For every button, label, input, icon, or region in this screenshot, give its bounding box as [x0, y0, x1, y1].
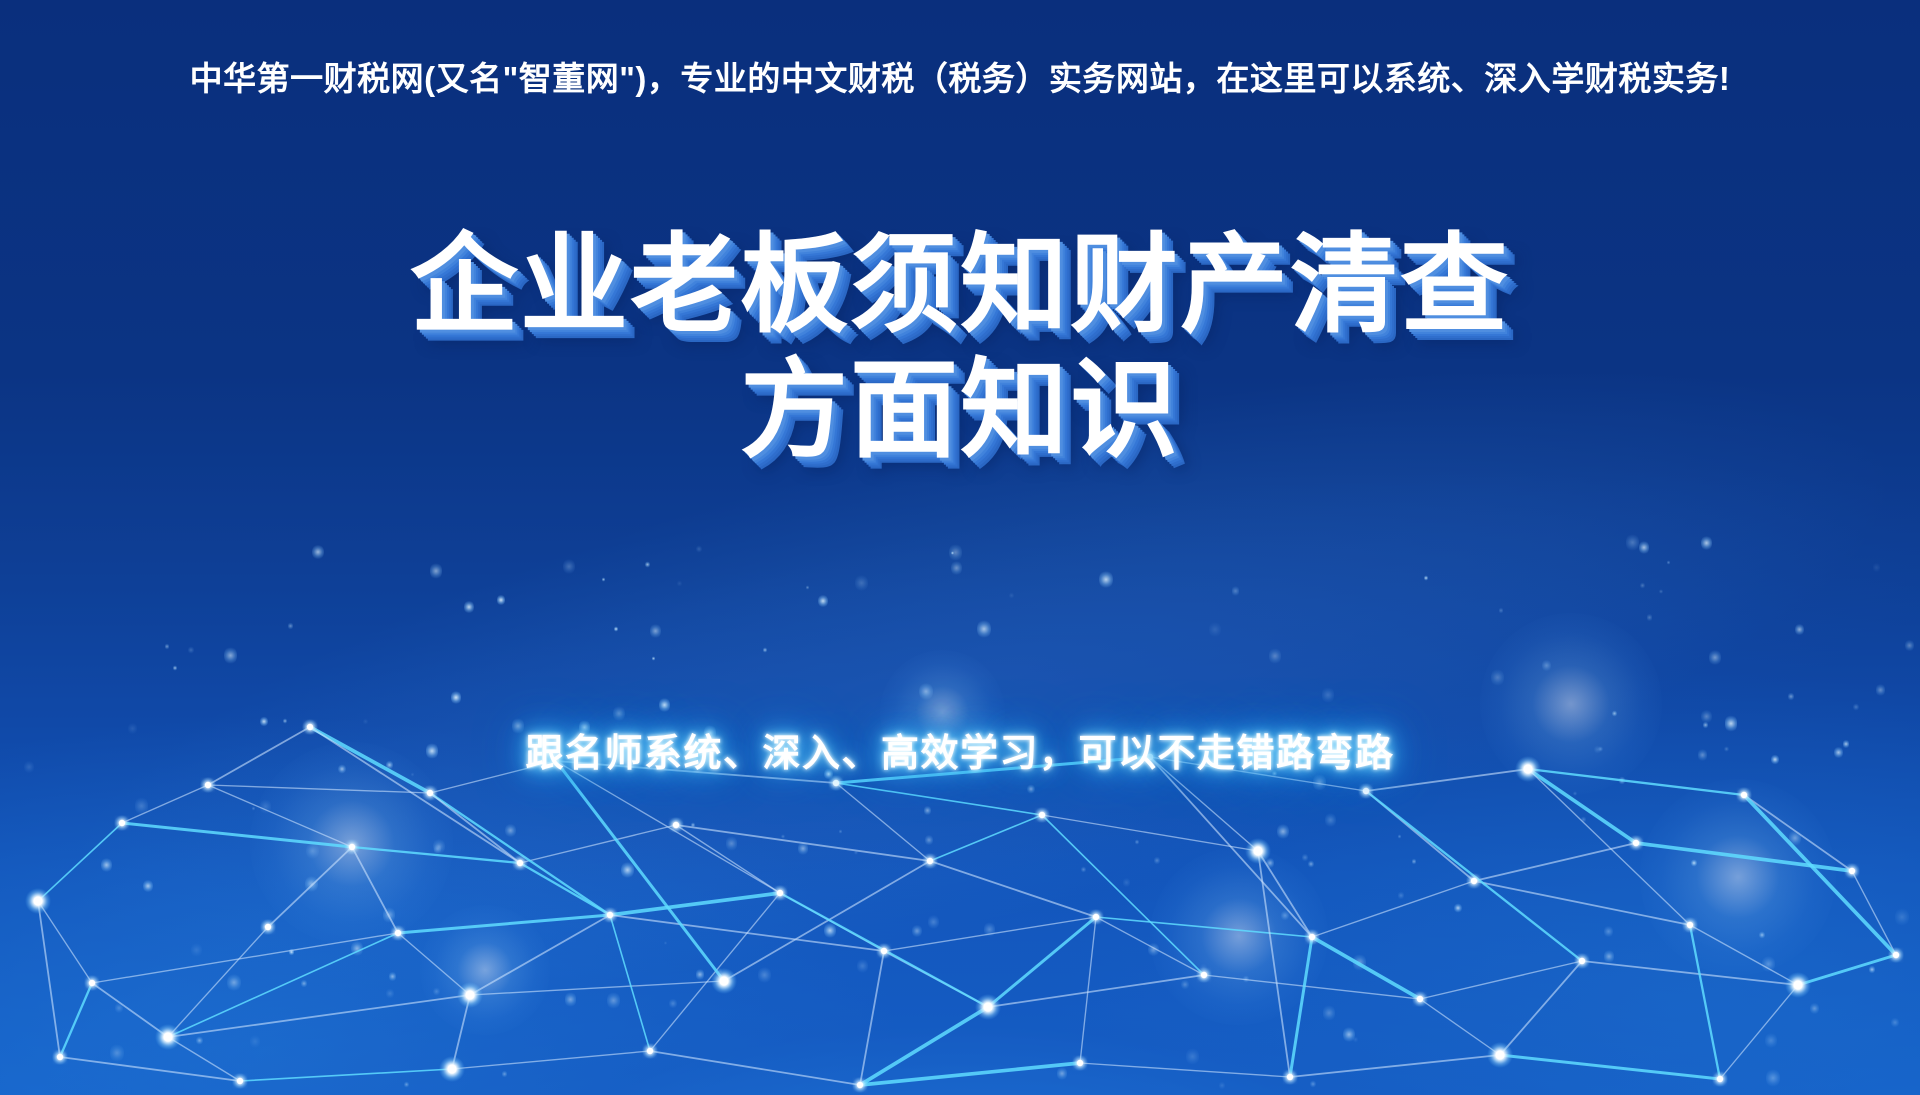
bokeh-particle [1424, 575, 1428, 581]
bokeh-particle [502, 1070, 508, 1078]
network-edge [1528, 769, 1636, 843]
network-edge [610, 893, 780, 915]
network-edge [610, 915, 884, 951]
bokeh-particle [389, 971, 397, 982]
bokeh-particle [912, 924, 922, 939]
site-tagline: 中华第一财税网(又名"智董网")，专业的中文财税（税务）实务网站，在这里可以系统… [190, 58, 1731, 101]
network-edge [1420, 999, 1500, 1055]
bokeh-particle [1499, 607, 1503, 613]
network-node [1309, 934, 1315, 940]
network-edge [780, 893, 988, 1007]
bokeh-halo [1640, 779, 1836, 975]
network-edge [1474, 843, 1636, 881]
bokeh-particle [289, 948, 295, 956]
bokeh-particle [951, 560, 962, 576]
bokeh-particle [1209, 621, 1221, 638]
network-edge [398, 933, 470, 995]
network-node [427, 790, 433, 796]
network-node-glow [390, 925, 406, 941]
network-edge [1042, 815, 1258, 851]
bokeh-particle [763, 647, 766, 652]
bokeh-particle [301, 979, 307, 988]
network-node [33, 896, 42, 905]
bokeh-particle [1269, 647, 1281, 664]
bokeh-particle [1325, 812, 1337, 829]
network-edge [930, 861, 1096, 917]
bokeh-particle [758, 966, 770, 984]
subtitle-text: 跟名师系统、深入、高效学习，可以不走错路弯路 [525, 722, 1394, 777]
network-node [1633, 840, 1639, 846]
bokeh-particle [977, 619, 991, 639]
network-edge [430, 793, 610, 915]
bokeh-particle [645, 561, 650, 568]
network-node [927, 858, 933, 864]
bokeh-particle [1604, 949, 1615, 964]
network-edge [988, 975, 1204, 1007]
bokeh-particle [1302, 853, 1308, 862]
network-node-glow [52, 1049, 68, 1065]
network-edge [168, 1037, 240, 1081]
bokeh-particle [1343, 1026, 1355, 1044]
bokeh-particle [1659, 589, 1663, 595]
network-edge [1420, 961, 1582, 999]
bokeh-particle [1573, 791, 1577, 796]
network-edge [470, 981, 724, 995]
bokeh-particle [696, 968, 705, 981]
bokeh-particle [433, 987, 439, 996]
network-node-glow [84, 975, 100, 991]
network-node [89, 980, 95, 986]
network-node [265, 924, 271, 930]
network-edge [430, 793, 520, 863]
network-node [857, 1082, 863, 1088]
network-edge [650, 1051, 860, 1085]
bokeh-particle [1454, 903, 1461, 913]
bokeh-particle [1135, 839, 1139, 845]
network-edge [38, 823, 122, 901]
bokeh-particle [1398, 834, 1401, 838]
bokeh-particle [433, 838, 445, 855]
bokeh-particle [1709, 649, 1720, 665]
network-node-glow [512, 855, 528, 871]
bokeh-particle [1795, 623, 1804, 636]
network-edge [676, 825, 930, 861]
network-node-glow [828, 775, 844, 791]
bokeh-particle [1604, 925, 1613, 939]
network-edge [452, 1051, 650, 1069]
bokeh-particle [614, 626, 618, 632]
network-node-glow [1245, 838, 1271, 864]
bokeh-particle [305, 875, 317, 893]
bokeh-particle [464, 600, 473, 614]
network-node [119, 820, 125, 826]
bokeh-particle [260, 798, 271, 814]
bokeh-particle [818, 594, 828, 608]
bokeh-particle [288, 622, 293, 629]
network-edge [836, 783, 1042, 815]
bokeh-particle [1759, 931, 1764, 939]
bokeh-particle [188, 646, 194, 654]
network-edge [122, 823, 352, 847]
bokeh-particle [1081, 866, 1086, 874]
network-edge [724, 861, 930, 981]
network-node-glow [1574, 953, 1590, 969]
bokeh-particle [497, 594, 505, 606]
bokeh-particle [1619, 776, 1625, 784]
bokeh-particle [1027, 784, 1034, 794]
bokeh-particle [173, 665, 177, 670]
network-node-glow [457, 982, 483, 1008]
network-node-glow [1282, 1069, 1298, 1085]
bokeh-particle [1148, 942, 1159, 957]
network-node [1893, 952, 1899, 958]
bokeh-particle [806, 585, 810, 590]
network-node-glow [642, 1043, 658, 1059]
bokeh-particle [691, 822, 695, 828]
network-edge [168, 933, 398, 1037]
bokeh-particle [1891, 1017, 1899, 1028]
network-edge [1636, 843, 1852, 871]
network-edge [268, 847, 352, 927]
network-edge [168, 927, 268, 1037]
network-edge [1096, 917, 1312, 937]
bokeh-particle [1876, 683, 1886, 697]
network-node-glow [711, 968, 737, 994]
network-edge [836, 783, 930, 861]
bokeh-particle [781, 834, 785, 840]
network-node-glow [602, 907, 618, 923]
network-edge [556, 761, 724, 981]
network-edge [1500, 1055, 1720, 1079]
bokeh-particle [798, 841, 808, 855]
network-node-glow [422, 785, 438, 801]
network-node-glow [1785, 972, 1811, 998]
network-node-glow [25, 888, 51, 914]
network-edge [1744, 795, 1852, 871]
network-node-glow [1712, 1071, 1728, 1087]
bokeh-particle [1200, 963, 1207, 974]
bokeh-particle [726, 835, 737, 852]
network-node-glow [1034, 807, 1050, 823]
bokeh-particle [1281, 910, 1289, 922]
network-edge [1312, 881, 1474, 937]
bokeh-particle [1353, 953, 1366, 972]
network-edge [60, 983, 92, 1057]
network-edge [470, 915, 610, 995]
network-node-glow [876, 943, 892, 959]
bokeh-particle [1873, 562, 1880, 573]
presentation-slide: 中华第一财税网(又名"智董网")，专业的中文财税（税务）实务网站，在这里可以系统… [0, 0, 1920, 1095]
network-node [1039, 812, 1045, 818]
bokeh-particle [1581, 816, 1585, 822]
network-node [881, 948, 887, 954]
network-node-glow [772, 885, 788, 901]
network-node [349, 844, 355, 850]
bokeh-particle [1701, 535, 1712, 551]
network-edge [1290, 1055, 1500, 1077]
network-node [1253, 846, 1262, 855]
network-node [57, 1054, 63, 1060]
network-node-glow [668, 817, 684, 833]
network-node-glow [155, 1024, 181, 1050]
network-node-glow [1466, 873, 1482, 889]
bokeh-particle [191, 942, 202, 957]
network-edge [1080, 917, 1096, 1063]
network-edge [1798, 955, 1896, 985]
network-edge [1258, 851, 1312, 937]
network-edge [240, 1069, 452, 1081]
bokeh-particle [430, 562, 442, 580]
bokeh-particle [143, 879, 153, 893]
network-edge [1720, 985, 1798, 1079]
bokeh-particle [696, 545, 701, 553]
network-node [1201, 972, 1207, 978]
network-edge [1258, 851, 1290, 1077]
network-node-glow [975, 994, 1001, 1020]
network-edge [1042, 815, 1204, 975]
bokeh-particle [1491, 668, 1504, 687]
network-node [1717, 1076, 1723, 1082]
bokeh-particle [1691, 859, 1697, 867]
network-node [1093, 914, 1099, 920]
bokeh-particle [669, 998, 677, 1010]
bokeh-particle [115, 1002, 123, 1014]
network-edge [38, 901, 92, 983]
network-node-glow [439, 1056, 465, 1082]
network-edge [168, 995, 470, 1037]
background-swoosh [0, 17, 1920, 1095]
bokeh-particle [312, 544, 323, 560]
bokeh-particle [1789, 829, 1802, 848]
bokeh-particle [1353, 1036, 1358, 1043]
network-node-glow [1628, 835, 1644, 851]
network-node-glow [1736, 787, 1752, 803]
network-edge [610, 915, 650, 1051]
network-edge [122, 785, 208, 823]
network-edge [1150, 757, 1312, 937]
bokeh-particle [1186, 1047, 1199, 1066]
network-edge [556, 761, 780, 893]
bokeh-particle [677, 580, 682, 587]
network-edge [1096, 917, 1204, 975]
network-edge [860, 1063, 1080, 1085]
network-node [1077, 1060, 1083, 1066]
network-node-glow [260, 919, 276, 935]
network-edge [38, 901, 60, 1057]
network-node [1741, 792, 1747, 798]
bokeh-particle [110, 1043, 124, 1063]
bokeh-particle [857, 958, 868, 974]
bokeh-particle [1869, 965, 1876, 974]
network-node-glow [200, 777, 216, 793]
network-edge [1204, 975, 1420, 999]
bokeh-particle [386, 988, 394, 999]
bokeh-particle [224, 646, 237, 665]
bokeh-particle [196, 1036, 203, 1046]
network-node-glow [114, 815, 130, 831]
network-node-glow [1844, 863, 1860, 879]
network-node-glow [232, 1073, 248, 1089]
network-node-glow [1682, 917, 1698, 933]
bokeh-particle [1640, 582, 1645, 589]
bokeh-particle [101, 857, 112, 873]
bokeh-particle [1123, 877, 1130, 887]
bokeh-particle [716, 967, 722, 975]
page-title: 企业老板须知财产清查 方面知识 [0, 222, 1920, 473]
bokeh-particle [650, 623, 661, 639]
network-edge [676, 825, 780, 893]
network-node-glow [1412, 991, 1428, 1007]
network-node [647, 1048, 653, 1054]
title-line-1: 企业老板须知财产清查 [0, 222, 1920, 347]
network-edge [1290, 937, 1312, 1077]
bokeh-particle [824, 922, 836, 939]
network-edge [1528, 769, 1690, 925]
bokeh-particle [1266, 857, 1275, 869]
network-edge [884, 951, 988, 1007]
network-edge [860, 951, 884, 1085]
bokeh-particle [1181, 979, 1189, 990]
network-edge [92, 983, 168, 1037]
network-node-glow [1088, 909, 1104, 925]
network-node [1793, 980, 1802, 989]
network-node-glow [344, 839, 360, 855]
bokeh-particle [1905, 639, 1914, 652]
bokeh-particle [1482, 881, 1487, 888]
bokeh-particle [1626, 533, 1639, 551]
bokeh-particle [252, 806, 255, 811]
bokeh-particle [928, 914, 939, 930]
network-edge [988, 917, 1096, 1007]
bokeh-particle [1154, 856, 1160, 865]
network-edge [930, 815, 1042, 861]
bokeh-halo [1150, 847, 1328, 1025]
bokeh-particle [1219, 1081, 1225, 1090]
network-edge [1500, 961, 1582, 1055]
bokeh-particle [505, 823, 516, 838]
network-edge [1366, 791, 1582, 961]
network-node-glow [1196, 967, 1212, 983]
network-node-glow [1304, 929, 1320, 945]
bokeh-particle [1765, 1032, 1777, 1050]
network-edge [208, 785, 352, 847]
bokeh-particle [165, 643, 170, 650]
network-edge [520, 863, 610, 915]
bokeh-particle [451, 690, 461, 705]
bokeh-particle [1766, 1068, 1780, 1088]
bokeh-particle [1277, 823, 1289, 840]
bokeh-particle [383, 906, 395, 924]
bokeh-particle [306, 842, 318, 860]
network-edge [398, 915, 610, 933]
network-node [777, 890, 783, 896]
bokeh-particle [621, 861, 634, 879]
bokeh-particle [1853, 703, 1859, 711]
bokeh-particle [951, 551, 954, 556]
network-edge [352, 847, 398, 933]
network-edge [1744, 795, 1896, 955]
network-edge [650, 893, 780, 1051]
network-edge [520, 825, 676, 863]
network-node [205, 782, 211, 788]
network-node [1287, 1074, 1293, 1080]
network-edge [1474, 881, 1690, 925]
bokeh-particle [1323, 1004, 1335, 1021]
network-node [833, 780, 839, 786]
network-node [517, 860, 523, 866]
bokeh-particle [1412, 858, 1416, 864]
bokeh-particle [664, 941, 667, 946]
bokeh-particle [1810, 1002, 1819, 1015]
network-node [1363, 788, 1369, 794]
network-node [395, 930, 401, 936]
network-node-glow [1358, 783, 1374, 799]
bokeh-particle [227, 973, 241, 993]
bokeh-particle [135, 796, 148, 815]
bokeh-particle [434, 843, 442, 854]
network-edge [780, 893, 884, 951]
bokeh-particle [1057, 1066, 1067, 1080]
bokeh-layer [0, 535, 1920, 1095]
network-node-glow [1487, 1042, 1513, 1068]
network-node [1495, 1050, 1504, 1059]
network-edge [92, 933, 398, 983]
network-edge [1366, 791, 1474, 881]
bokeh-particle [1895, 907, 1909, 927]
network-edge [1852, 871, 1896, 955]
network-edge [1690, 925, 1720, 1079]
network-edge [1312, 937, 1420, 999]
bokeh-particle [563, 558, 575, 575]
bokeh-particle [1667, 560, 1670, 565]
bokeh-particle [924, 805, 931, 815]
network-node-glow [1888, 947, 1904, 963]
bokeh-particle [652, 656, 655, 661]
bokeh-particle [1308, 860, 1314, 869]
network-edge [60, 1057, 240, 1081]
bokeh-particle [1310, 1080, 1316, 1089]
bokeh-particle [351, 940, 363, 957]
bokeh-particle [854, 850, 858, 856]
network-edge [452, 995, 470, 1069]
network-node-glow [922, 853, 938, 869]
bokeh-particle [949, 543, 962, 562]
subtitle: 跟名师系统、深入、高效学习，可以不走错路弯路 [0, 722, 1920, 777]
network-node [1849, 868, 1855, 874]
bokeh-particle [1322, 686, 1334, 704]
network-edge [352, 847, 520, 863]
network-node [163, 1032, 172, 1041]
bokeh-particle [855, 574, 868, 592]
bokeh-particle [1788, 692, 1794, 701]
network-edge [1080, 1063, 1290, 1077]
bokeh-particle [919, 682, 933, 702]
bokeh-particle [602, 577, 605, 582]
bokeh-particle [1762, 955, 1774, 973]
network-node [1579, 958, 1585, 964]
network-node [1687, 922, 1693, 928]
bokeh-particle [1612, 710, 1617, 717]
network-node [1417, 996, 1423, 1002]
bokeh-particle [984, 921, 995, 937]
network-node [237, 1078, 243, 1084]
network-node [673, 822, 679, 828]
bokeh-particle [1639, 540, 1649, 555]
bokeh-particle [1099, 570, 1113, 590]
network-node [447, 1064, 456, 1073]
bokeh-particle [565, 991, 576, 1008]
bokeh-particle [925, 834, 933, 846]
